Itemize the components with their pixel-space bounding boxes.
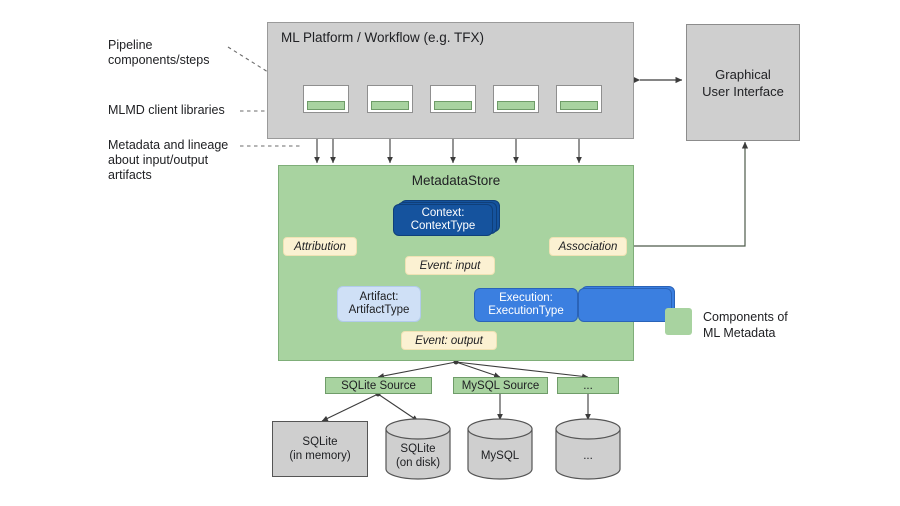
sqlite-source-box[interactable]: SQLite Source [325,377,432,394]
other-source-box[interactable]: ... [557,377,619,394]
execution-node[interactable]: Execution: ExecutionType [474,288,578,322]
other-backend[interactable]: ... [555,418,621,480]
context-node[interactable]: Context: ContextType [393,204,493,236]
context-node-label: Context: ContextType [411,207,476,234]
event-output-relation[interactable]: Event: output [401,331,497,350]
store-to-sources-arrows [378,360,588,377]
attribution-label: Attribution [294,241,346,253]
artifact-node-label: Artifact: ArtifactType [349,291,410,318]
sqlite-on-disk-backend[interactable]: SQLite (on disk) [385,418,451,480]
mysql-source-label: MySQL Source [462,380,540,392]
execution-node-shadow-1 [578,288,672,322]
annotation-metadata-lineage: Metadata and lineage about input/output … [108,138,248,183]
event-input-relation[interactable]: Event: input [405,256,495,275]
attribution-relation[interactable]: Attribution [283,237,357,256]
association-label: Association [559,241,618,253]
event-output-label: Event: output [415,335,483,347]
mlmd-client-library-3[interactable] [434,101,472,110]
metadata-store-title: MetadataStore [278,173,634,188]
sources-to-backends-arrows [322,392,588,421]
annotation-mlmd-client-libraries: MLMD client libraries [108,103,248,118]
event-input-label: Event: input [420,260,481,272]
association-to-gui-connector [627,142,745,246]
mlmd-client-library-5[interactable] [560,101,598,110]
execution-node-label: Execution: ExecutionType [488,292,563,319]
other-source-label: ... [583,380,593,392]
diagram-canvas: Pipeline components/steps MLMD client li… [0,0,900,506]
annotation-pipeline-components: Pipeline components/steps [108,38,233,68]
ml-platform-title: ML Platform / Workflow (e.g. TFX) [281,30,484,45]
artifact-node[interactable]: Artifact: ArtifactType [337,286,421,322]
gui-label: Graphical User Interface [702,66,784,100]
sqlite-on-disk-label: SQLite (on disk) [385,442,451,470]
mlmd-client-library-2[interactable] [371,101,409,110]
association-relation[interactable]: Association [549,237,627,256]
mysql-label: MySQL [467,449,533,463]
legend-swatch [665,308,692,335]
other-backend-label: ... [555,449,621,463]
sqlite-in-memory-backend[interactable]: SQLite (in memory) [272,421,368,477]
mlmd-client-library-4[interactable] [497,101,535,110]
legend-text: Components of ML Metadata [703,309,853,341]
mysql-source-box[interactable]: MySQL Source [453,377,548,394]
graphical-user-interface-box[interactable]: Graphical User Interface [686,24,800,141]
sqlite-in-memory-label: SQLite (in memory) [289,435,350,463]
mysql-backend[interactable]: MySQL [467,418,533,480]
mlmd-client-library-1[interactable] [307,101,345,110]
sqlite-source-label: SQLite Source [341,380,416,392]
